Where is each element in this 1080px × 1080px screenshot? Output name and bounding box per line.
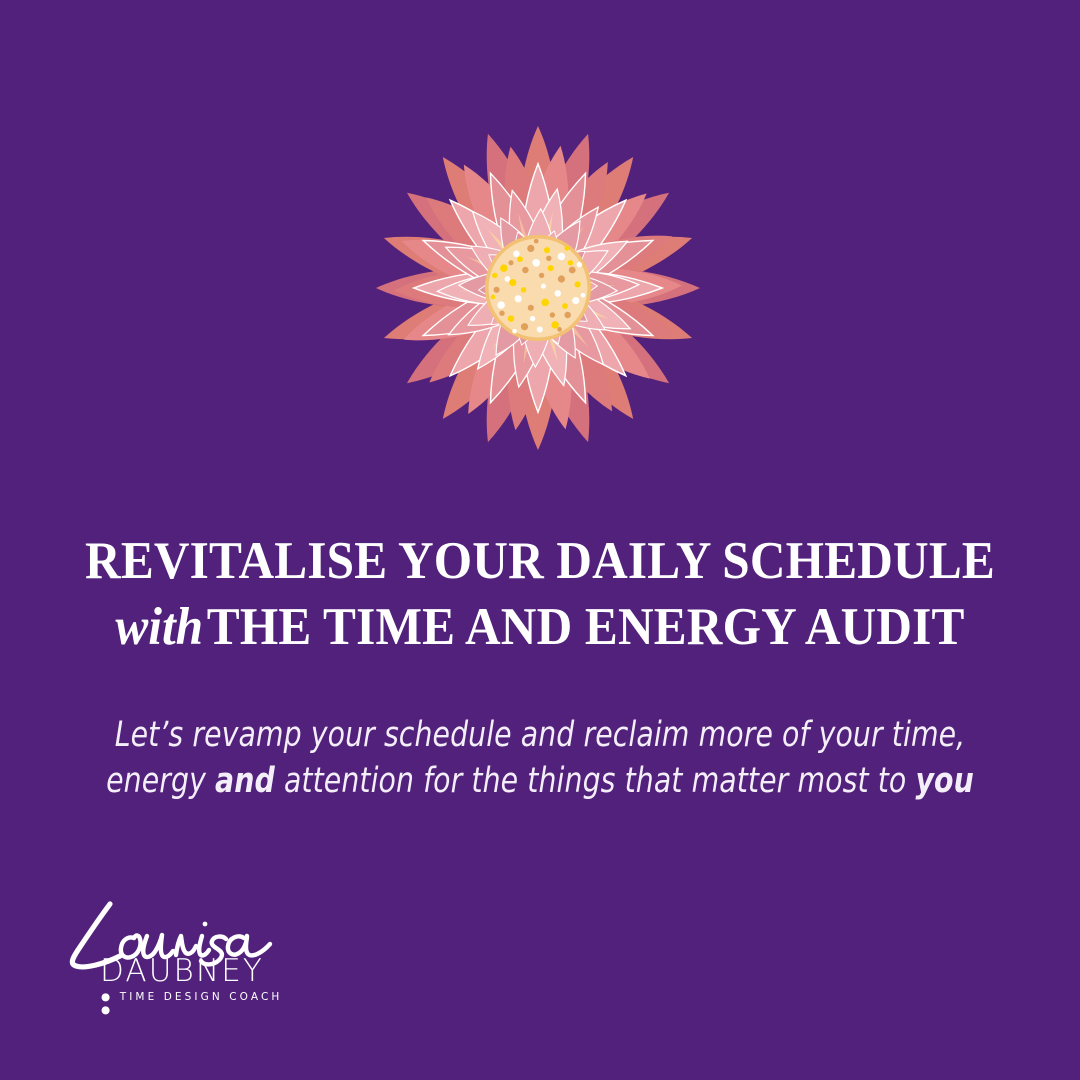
subtitle-part-2: attention for the things that matter mos… [275, 761, 916, 801]
headline: REVITALISE YOUR DAILY SCHEDULE withTHE T… [38, 528, 1042, 660]
flower-svg [355, 108, 721, 468]
subtitle-line-2: energy and attention for the things that… [54, 758, 1026, 804]
subtitle-line-1: Let’s revamp your schedule and reclaim m… [54, 712, 1026, 758]
headline-with: with [115, 598, 206, 656]
subtitle-bold-and: and [215, 761, 275, 801]
subtitle: Let’s revamp your schedule and reclaim m… [54, 712, 1026, 804]
subtitle-bold-you: you [915, 761, 973, 801]
logo-tagline: ● TIME DESIGN COACH ● [101, 991, 288, 1017]
brand-logo: DAUBNEY ● TIME DESIGN COACH ● [48, 898, 288, 1010]
subtitle-part-1: energy [106, 761, 215, 801]
flower-illustration [355, 108, 721, 468]
poster-canvas: REVITALISE YOUR DAILY SCHEDULE withTHE T… [0, 0, 1080, 1080]
logo-surname: DAUBNEY [100, 954, 264, 988]
flower-center [485, 235, 591, 341]
headline-line-2: withTHE TIME AND ENERGY AUDIT [38, 594, 1042, 660]
headline-line-2-rest: THE TIME AND ENERGY AUDIT [207, 598, 965, 656]
headline-line-1: REVITALISE YOUR DAILY SCHEDULE [38, 528, 1042, 594]
